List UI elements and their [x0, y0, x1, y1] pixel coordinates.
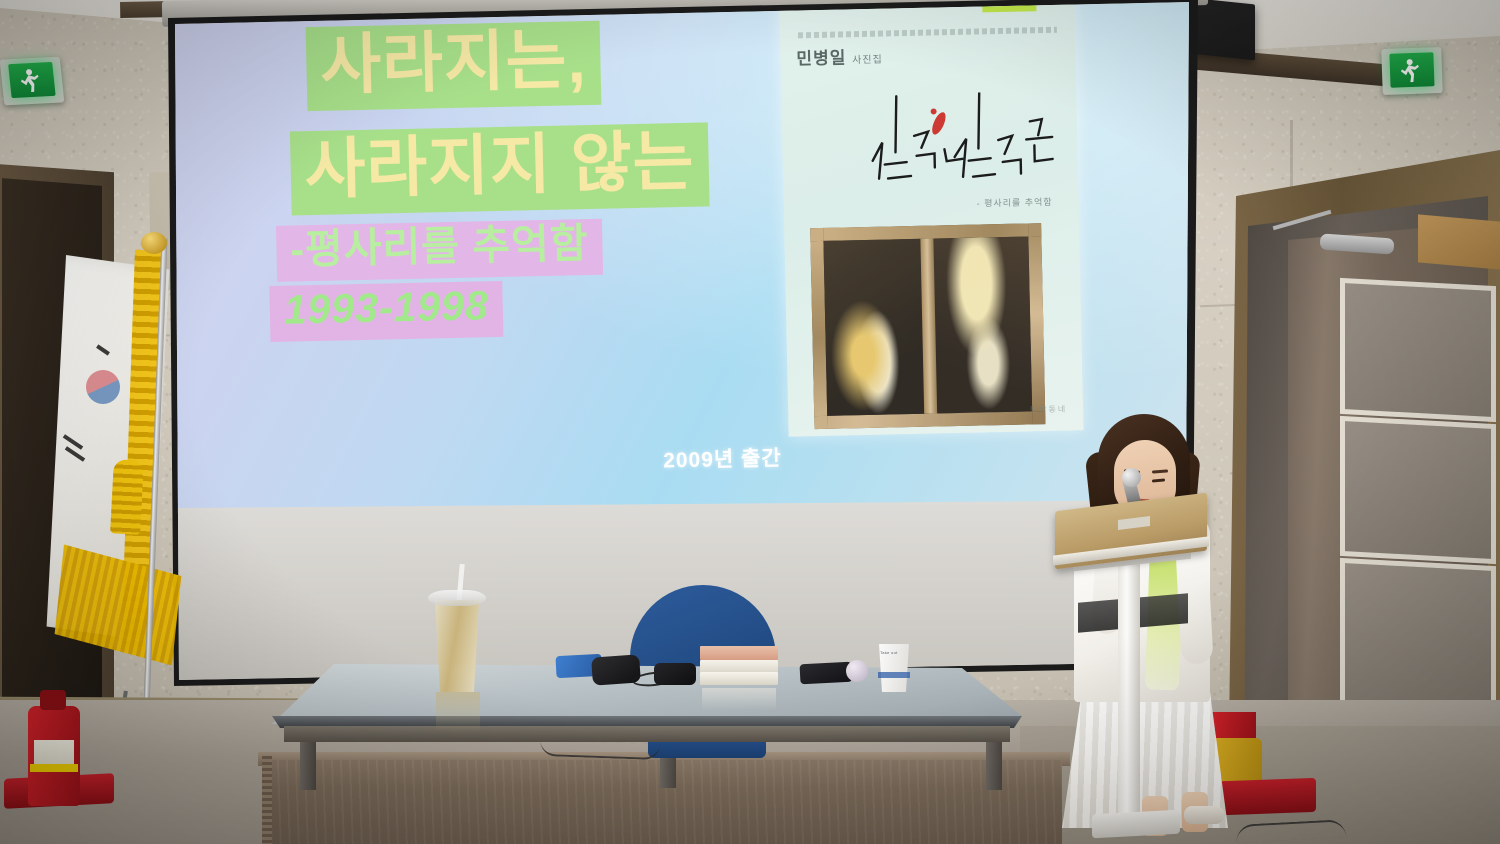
book-middle: [700, 660, 778, 672]
paper-cup-text: Take out: [880, 650, 908, 655]
fire-extinguisher-left: fire extinguisher: [28, 706, 80, 806]
book-author-name: 민병일 사진집: [796, 43, 883, 70]
flag-finial-icon: [141, 232, 167, 254]
projected-slide-area: 사라지는, 사라지지 않는 -평사리를 추억함 1993-1998 2009년 …: [175, 0, 1189, 515]
smartphone: smartphone: [800, 662, 853, 685]
door-panel: [1340, 416, 1496, 564]
slide-line-1: 사라지는,: [306, 21, 602, 111]
book-subtitle: - 평사리를 추억함: [977, 195, 1053, 210]
book-cover-image: 민병일 사진집: [779, 0, 1084, 437]
running-man-icon: [16, 66, 49, 93]
exit-sign-right: EXIT: [1381, 47, 1443, 95]
exit-sign-left: EXIT: [0, 57, 64, 106]
running-man-icon: [1397, 56, 1428, 83]
presentation-slide: 사라지는, 사라지지 않는 -평사리를 추억함 1993-1998 2009년 …: [175, 0, 1200, 515]
fire-extinguisher-band: [30, 764, 78, 772]
book-bottom: [700, 672, 778, 685]
small-gadget: [846, 660, 868, 682]
book-author-text: 민병일: [796, 48, 846, 68]
window-pane-left: [823, 239, 929, 416]
books-reflection: [702, 688, 776, 710]
flag-tassel: [110, 459, 144, 534]
book-calligraphy-title: [793, 91, 1070, 207]
book-author-suffix: 사진집: [852, 55, 883, 67]
table-apron: [284, 726, 1010, 742]
projection-screen: 사라지는, 사라지지 않는 -평사리를 추억함 1993-1998 2009년 …: [175, 0, 1189, 680]
book-cover-blurb-line: [798, 27, 1057, 39]
iced-drink-reflection: [436, 692, 480, 732]
exit-sign-label: EXIT: [1381, 49, 1382, 50]
slide-line-2: 사라지지 않는: [290, 122, 709, 215]
paper-cup-band: [878, 672, 910, 678]
iced-drink-cup: iced beverage cup with straw: [432, 600, 482, 692]
exit-sign-panel: [1389, 52, 1434, 88]
fire-extinguisher-label: [34, 740, 74, 764]
exit-sign-label: EXIT: [0, 60, 1, 61]
book-publisher-mark: 문학동네: [1030, 404, 1068, 416]
exit-sign-panel: [8, 62, 56, 98]
slide-title-line1: 사라지는,: [306, 21, 602, 111]
upper-cabinet: [1418, 214, 1500, 269]
podium-base: [1092, 810, 1180, 839]
door-panel: [1340, 278, 1496, 422]
table-leg: [300, 740, 316, 790]
flag-label: 대한민국 국기: [66, 255, 67, 256]
slide-title-line2: 사라지지 않는: [290, 122, 709, 215]
slide-year-range: 1993-1998: [269, 281, 503, 342]
book-cover-illustration: [810, 223, 1045, 429]
slide-line-3: -평사리를 추억함: [276, 219, 603, 282]
book-stack: stack of three books: [700, 646, 778, 688]
table-leg: [986, 740, 1002, 790]
cup-lid: [428, 590, 486, 606]
photo-scene: EXIT EXIT 사라지는, 사라지지 않는: [0, 0, 1500, 844]
book-top: [700, 646, 778, 660]
presenter-shoe: [1184, 806, 1224, 824]
slide-publish-note: 2009년 출간: [663, 442, 782, 475]
platform-edge: [262, 756, 272, 844]
podium-stem: [1118, 552, 1140, 820]
door-panel: [1340, 558, 1496, 716]
slide-subtitle: -평사리를 추억함: [276, 219, 603, 282]
window-pane-right: [926, 236, 1032, 413]
black-case: [654, 663, 696, 685]
slide-line-4: 1993-1998: [269, 281, 503, 342]
